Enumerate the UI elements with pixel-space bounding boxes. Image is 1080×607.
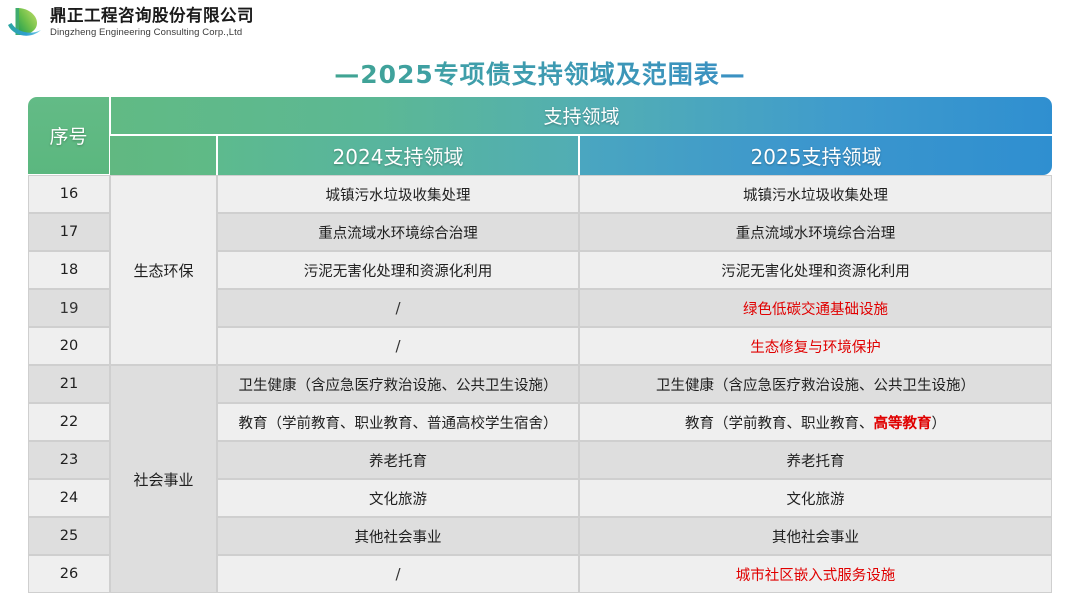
cell-2024: / [217,327,579,365]
cell-2025-highlight: 高等教育 [874,416,932,432]
cell-2025: 城镇污水垃圾收集处理 [579,175,1052,213]
page-title: —2025专项债支持领域及范围表— [0,55,1080,91]
brand-name-en: Dingzheng Engineering Consulting Corp.,L… [50,28,254,38]
cell-2025: 绿色低碳交通基础设施 [579,289,1052,327]
table-body: 16 生态环保 城镇污水垃圾收集处理 城镇污水垃圾收集处理 17 重点流域水环境… [28,175,1052,593]
cell-2025-suffix: ） [932,416,947,432]
cell-index: 16 [28,175,110,213]
cell-index: 22 [28,403,110,441]
table-header-row-top: 序号 支持领域 [28,97,1052,135]
cell-index: 23 [28,441,110,479]
cell-2024: 文化旅游 [217,479,579,517]
cell-2025: 文化旅游 [579,479,1052,517]
cell-2024: 污泥无害化处理和资源化利用 [217,251,579,289]
cell-index: 26 [28,555,110,593]
cell-2024: 重点流域水环境综合治理 [217,213,579,251]
brand-header: 鼎正工程咨询股份有限公司 Dingzheng Engineering Consu… [0,0,252,45]
brand-name-cn: 鼎正工程咨询股份有限公司 [50,8,254,25]
cell-category: 社会事业 [110,365,217,593]
header-support-scope: 支持领域 [110,97,1052,135]
cell-2025: 重点流域水环境综合治理 [579,213,1052,251]
cell-2024: / [217,555,579,593]
cell-index: 24 [28,479,110,517]
cell-index: 17 [28,213,110,251]
cell-2024: 养老托育 [217,441,579,479]
cell-2025: 卫生健康（含应急医疗救治设施、公共卫生设施） [579,365,1052,403]
cell-index: 19 [28,289,110,327]
header-col-2024: 2024支持领域 [217,135,579,175]
support-scope-table-container: 序号 支持领域 2024支持领域 2025支持领域 16 生态环保 城镇污水垃圾… [28,97,1052,593]
table-header-row-sub: 2024支持领域 2025支持领域 [28,135,1052,175]
cell-2024: 其他社会事业 [217,517,579,555]
cell-2025: 城市社区嵌入式服务设施 [579,555,1052,593]
table-row: 16 生态环保 城镇污水垃圾收集处理 城镇污水垃圾收集处理 [28,175,1052,213]
header-index: 序号 [28,97,110,175]
header-category-blank [110,135,217,175]
cell-2024: 卫生健康（含应急医疗救治设施、公共卫生设施） [217,365,579,403]
cell-2025: 其他社会事业 [579,517,1052,555]
cell-category: 生态环保 [110,175,217,365]
dingzheng-leaf-logo-icon [6,5,44,41]
cell-2025-prefix: 教育（学前教育、职业教育、 [685,416,874,432]
cell-2025: 养老托育 [579,441,1052,479]
cell-index: 25 [28,517,110,555]
cell-index: 21 [28,365,110,403]
cell-2024: 教育（学前教育、职业教育、普通高校学生宿舍） [217,403,579,441]
table-header: 序号 支持领域 2024支持领域 2025支持领域 [28,97,1052,175]
cell-2025: 生态修复与环境保护 [579,327,1052,365]
support-scope-table: 序号 支持领域 2024支持领域 2025支持领域 16 生态环保 城镇污水垃圾… [28,97,1052,593]
cell-2024: / [217,289,579,327]
brand-text: 鼎正工程咨询股份有限公司 Dingzheng Engineering Consu… [50,8,254,37]
cell-2025: 教育（学前教育、职业教育、高等教育） [579,403,1052,441]
cell-2025: 污泥无害化处理和资源化利用 [579,251,1052,289]
cell-2024: 城镇污水垃圾收集处理 [217,175,579,213]
table-row: 21 社会事业 卫生健康（含应急医疗救治设施、公共卫生设施） 卫生健康（含应急医… [28,365,1052,403]
header-col-2025: 2025支持领域 [579,135,1052,175]
cell-index: 20 [28,327,110,365]
cell-index: 18 [28,251,110,289]
